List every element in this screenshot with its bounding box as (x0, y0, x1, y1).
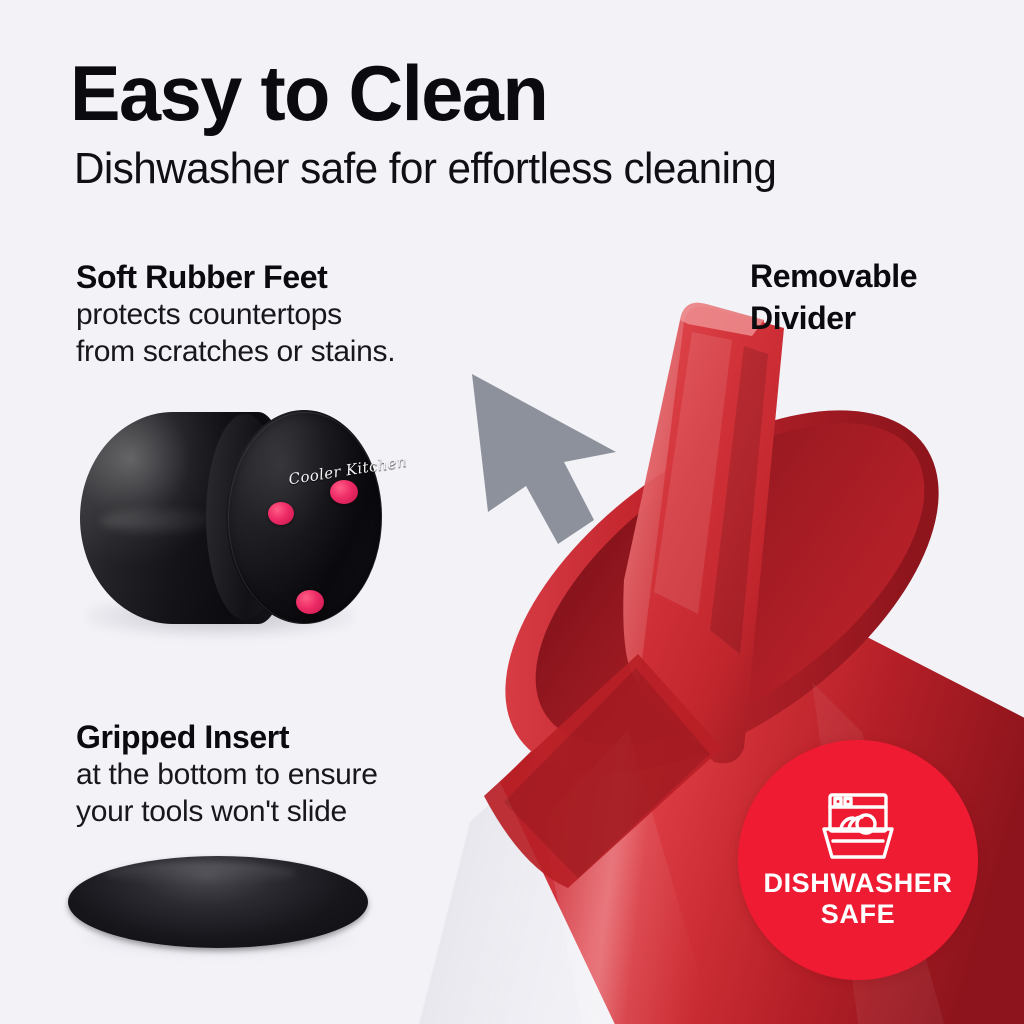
feature-body-line-2: your tools won't slide (76, 793, 378, 830)
rubber-foot-icon (296, 590, 324, 614)
badge-line-2: SAFE (763, 899, 952, 930)
feature-body-line-1: at the bottom to ensure (76, 756, 378, 793)
feature-body-line-1: protects countertops (76, 296, 395, 333)
feature-body-line-2: from scratches or stains. (76, 333, 395, 370)
feature-title: Soft Rubber Feet (76, 258, 395, 296)
dishwasher-icon (814, 790, 902, 862)
feature-removable-divider: Removable Divider (750, 255, 917, 339)
feature-title-line-1: Removable (750, 255, 917, 297)
lift-arrow-icon (472, 374, 616, 544)
page-title: Easy to Clean (70, 52, 547, 134)
feature-title-line-2: Divider (750, 297, 917, 339)
feature-soft-rubber-feet: Soft Rubber Feet protects countertops fr… (76, 258, 395, 370)
feature-title: Gripped Insert (76, 718, 378, 756)
insert-pad (68, 856, 368, 948)
rubber-feet-product-photo: Cooler Kitchen (78, 398, 388, 648)
rubber-foot-icon (268, 502, 294, 525)
badge-line-1: DISHWASHER (763, 868, 952, 899)
gripped-insert-product-photo (62, 848, 382, 966)
dishwasher-safe-badge: DISHWASHER SAFE (738, 740, 978, 980)
page-subtitle: Dishwasher safe for effortless cleaning (74, 144, 776, 194)
feature-gripped-insert: Gripped Insert at the bottom to ensure y… (76, 718, 378, 830)
infographic-canvas: Easy to Clean Dishwasher safe for effort… (0, 0, 1024, 1024)
rubber-foot-icon (330, 480, 358, 504)
